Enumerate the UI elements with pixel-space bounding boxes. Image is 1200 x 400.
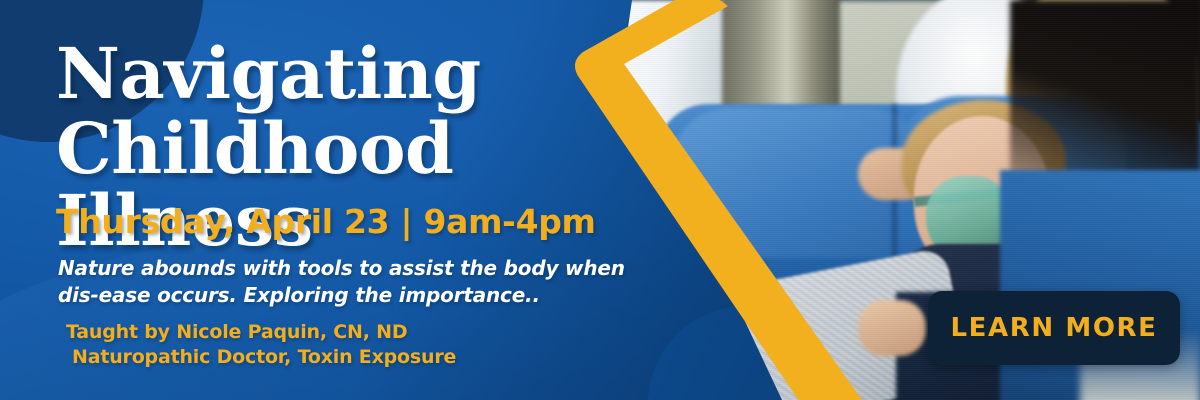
description-line-1: Nature abounds with tools to assist the … xyxy=(58,256,625,280)
event-description: Nature abounds with tools to assist the … xyxy=(58,255,628,309)
event-date-time: Thursday, April 23 | 9am-4pm xyxy=(56,202,596,241)
headline-line-1: Navigating xyxy=(56,32,481,115)
instructor-credit: Taught by Nicole Paquin, CN, ND Naturopa… xyxy=(66,320,626,370)
instructor-name: Taught by Nicole Paquin, CN, ND xyxy=(66,321,407,343)
event-promo-banner: Navigating Childhood Illness Thursday, A… xyxy=(0,0,1200,400)
instructor-title: Naturopathic Doctor, Toxin Exposure xyxy=(66,345,626,370)
description-line-2: dis-ease occurs. Exploring the importanc… xyxy=(58,283,540,307)
learn-more-button[interactable]: LEARN MORE xyxy=(928,291,1180,365)
banner-text-content: Navigating Childhood Illness Thursday, A… xyxy=(0,0,640,400)
